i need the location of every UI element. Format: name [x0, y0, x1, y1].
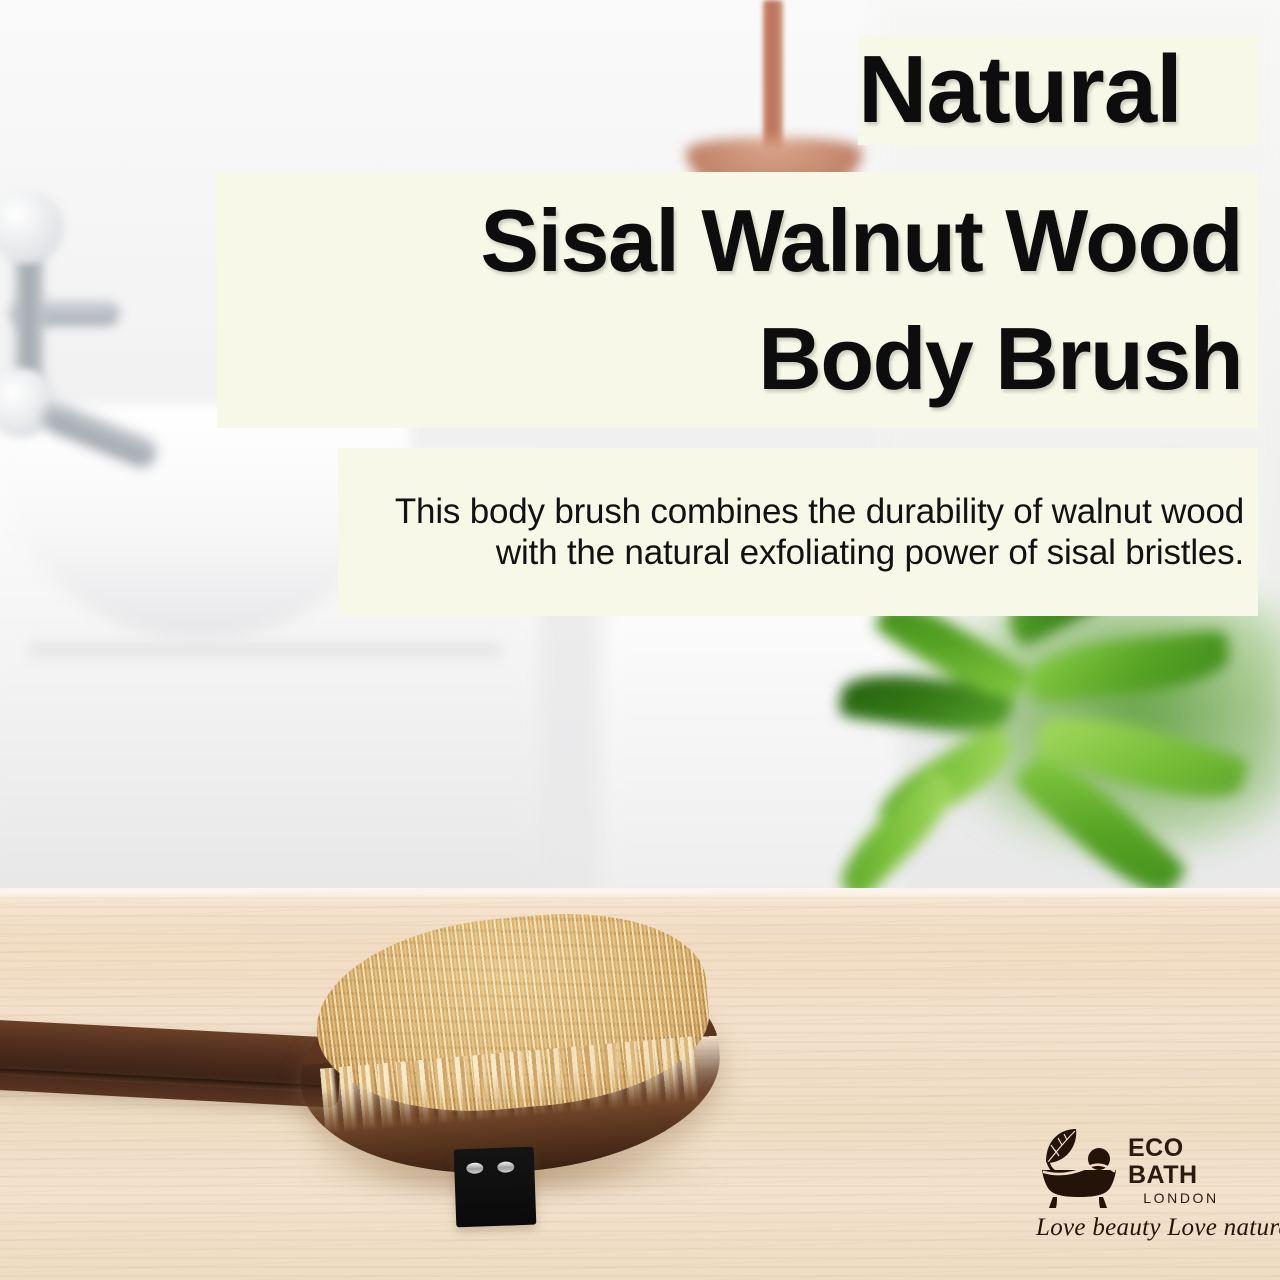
brush-handle: [0, 1018, 342, 1108]
description-band: This body brush combines the durability …: [338, 448, 1258, 616]
eyebrow-band: Natural: [858, 35, 1258, 145]
body-brush-product: [0, 900, 740, 1230]
strap-eyelet-right: [497, 1161, 514, 1173]
pendant-lamp-stem: [763, 0, 783, 150]
headline-wrap: Sisal Walnut Wood Body Brush: [217, 182, 1258, 418]
description-text: This body brush combines the durability …: [338, 491, 1258, 573]
headline-line-2: Body Brush: [241, 300, 1242, 418]
brush-hanging-strap: [454, 1147, 537, 1228]
product-poster: Natural Sisal Walnut Wood Body Brush Thi…: [0, 0, 1280, 1280]
brand-name: ECO BATH: [1128, 1135, 1232, 1189]
cabinet-seam: [30, 645, 500, 655]
brand-location: LONDON: [1128, 1189, 1232, 1207]
brand-tagline: Love beauty Love nature: [1036, 1214, 1232, 1242]
strap-eyelet-left: [466, 1162, 483, 1174]
brand-logo: ECO BATH LONDON Love beauty Love nature: [1036, 1126, 1232, 1258]
headline-line-1: Sisal Walnut Wood: [241, 182, 1242, 300]
headline-band: Sisal Walnut Wood Body Brush: [217, 172, 1258, 428]
logo-row: ECO BATH LONDON: [1036, 1126, 1232, 1210]
bathtub-leaf-icon: [1036, 1126, 1122, 1210]
eyebrow-text: Natural: [858, 35, 1200, 145]
logo-wordmark: ECO BATH LONDON: [1122, 1129, 1232, 1207]
